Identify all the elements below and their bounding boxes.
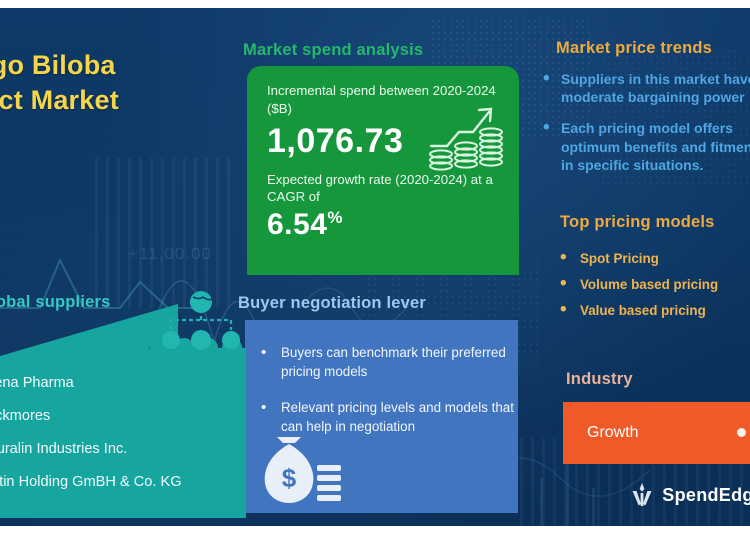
pricing-models-list: Spot Pricing Volume based pricing Value … (558, 251, 750, 329)
market-spend-card: Incremental spend between 2020-2024 ($B)… (247, 66, 519, 275)
buyer-bullet-list: Buyers can benchmark their preferred pri… (257, 344, 518, 436)
list-item: Naturalin Industries Inc. (0, 440, 246, 459)
page-title: Ginkgo Biloba Extract Market (0, 48, 210, 117)
cagr-unit: % (327, 208, 343, 227)
price-trends-list: Suppliers in this market have moderate b… (541, 70, 750, 187)
list-item: Indena Pharma (0, 374, 246, 393)
list-item: Volume based pricing (558, 277, 750, 292)
list-item: Suppliers in this market have moderate b… (541, 70, 750, 106)
spendedge-trident-icon (629, 482, 655, 508)
infographic-canvas: +11,00.00 Ginkgo Biloba Extract Market M… (0, 0, 750, 536)
global-suppliers-panel: Indena Pharma Blackmores Naturalin Indus… (0, 304, 246, 518)
bg-bar-columns-left (95, 158, 235, 308)
infographic-stage: +11,00.00 Ginkgo Biloba Extract Market M… (0, 8, 750, 526)
section-heading-price-trends: Market price trends (556, 39, 712, 58)
growth-rate-label: Expected growth rate (2020-2024) at a CA… (267, 171, 501, 207)
industry-status-label: Growth (587, 424, 639, 442)
suppliers-list: Indena Pharma Blackmores Naturalin Indus… (0, 374, 246, 506)
industry-status-badge: Growth (563, 402, 750, 464)
coins-growth-icon (427, 102, 505, 174)
bg-ticker-text: +11,00.00 (128, 244, 212, 264)
list-item: Value based pricing (558, 303, 750, 318)
section-heading-industry: Industry (566, 370, 633, 389)
section-heading-pricing-models: Top pricing models (560, 213, 715, 232)
brand-logo: SpendEdge (629, 482, 750, 508)
cagr-value: 6.54 (267, 208, 327, 241)
svg-text:$: $ (282, 463, 297, 493)
list-item: Relevant pricing levels and models that … (257, 399, 518, 436)
section-heading-market-spend: Market spend analysis (243, 41, 423, 60)
cagr-value-row: 6.54% (267, 208, 501, 242)
growth-marker-dot (737, 428, 746, 437)
global-network-icon (157, 290, 245, 362)
buyer-negotiation-card: Buyers can benchmark their preferred pri… (245, 320, 518, 513)
list-item: Martin Holding GmBH & Co. KG (0, 473, 246, 492)
list-item: Spot Pricing (558, 251, 750, 266)
list-item: Each pricing model offers optimum benefi… (541, 119, 750, 174)
section-heading-buyer-negotiation: Buyer negotiation lever (238, 294, 426, 313)
money-bag-icon: $ (257, 435, 343, 507)
list-item: Buyers can benchmark their preferred pri… (257, 344, 518, 381)
list-item: Blackmores (0, 407, 246, 426)
brand-logo-text: SpendEdge (662, 485, 750, 506)
